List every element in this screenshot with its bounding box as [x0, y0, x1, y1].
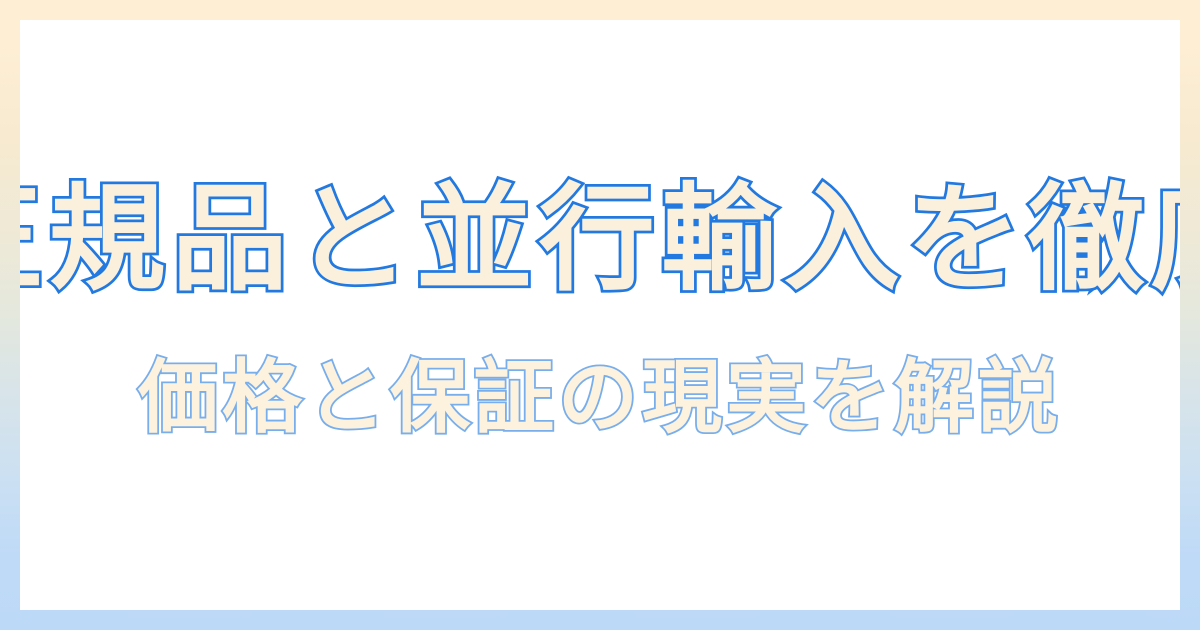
white-content-panel: 正規品と並行輸入を徹底 価格と保証の現実を解説 — [20, 20, 1180, 610]
headline-text: 正規品と並行輸入を徹底 — [20, 181, 1180, 299]
text-stack: 正規品と並行輸入を徹底 価格と保証の現実を解説 — [20, 20, 1180, 610]
og-image-card: 正規品と並行輸入を徹底 価格と保証の現実を解説 — [0, 0, 1200, 630]
subheadline-text: 価格と保証の現実を解説 — [138, 357, 1062, 439]
